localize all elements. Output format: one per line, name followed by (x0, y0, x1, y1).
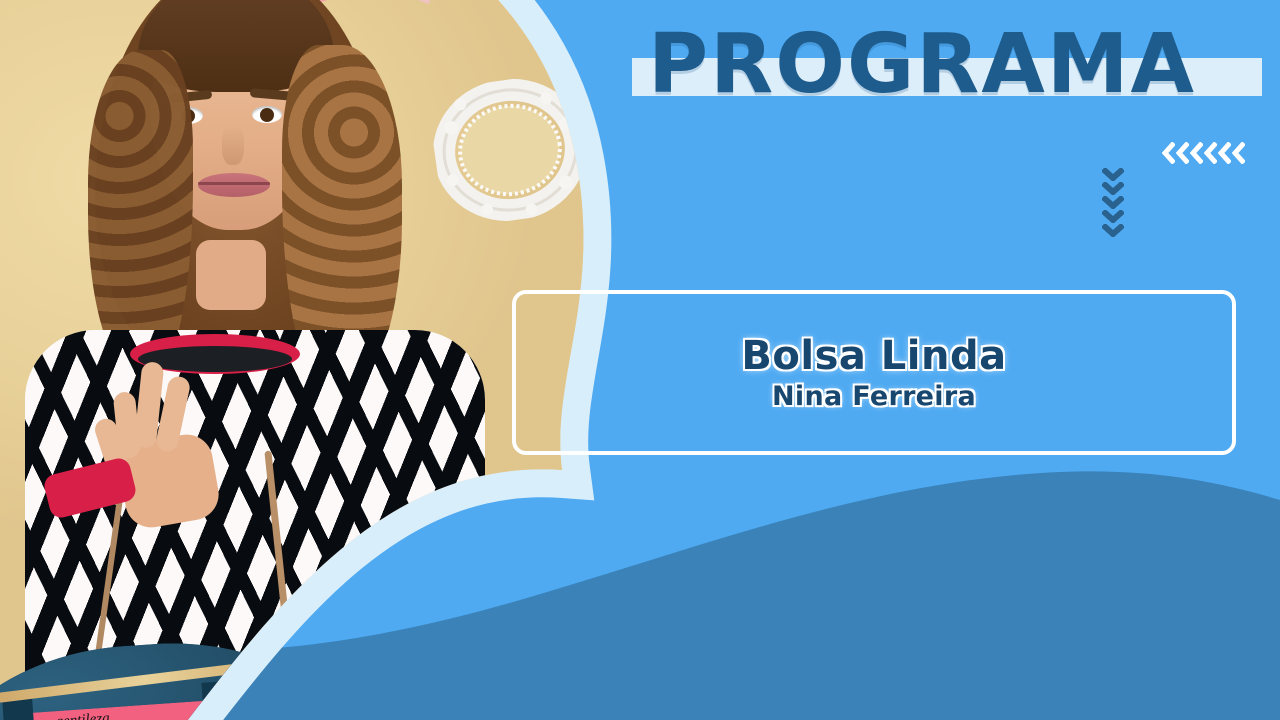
chevron-left-icon (1162, 142, 1175, 164)
card-title: Bolsa Linda (741, 333, 1006, 379)
chevron-down-icon-group (1102, 168, 1124, 237)
chevron-left-icon (1218, 142, 1231, 164)
poster-canvas: ra - gentileza paz e amor Sabedoria era … (0, 0, 1280, 720)
page-title: PROGRAMA (648, 24, 1268, 106)
chevron-down-icon (1102, 210, 1124, 223)
chevron-left-icon (1232, 142, 1245, 164)
chevron-left-icon (1176, 142, 1189, 164)
title-card: Bolsa Linda Nina Ferreira (512, 290, 1236, 455)
chevron-left-icon (1190, 142, 1203, 164)
chevron-left-icon-group (1162, 142, 1245, 164)
chevron-down-icon (1102, 224, 1124, 237)
card-subtitle: Nina Ferreira (772, 381, 976, 412)
chevron-left-icon (1204, 142, 1217, 164)
chevron-down-icon (1102, 196, 1124, 209)
chevron-down-icon (1102, 182, 1124, 195)
chevron-down-icon (1102, 168, 1124, 181)
